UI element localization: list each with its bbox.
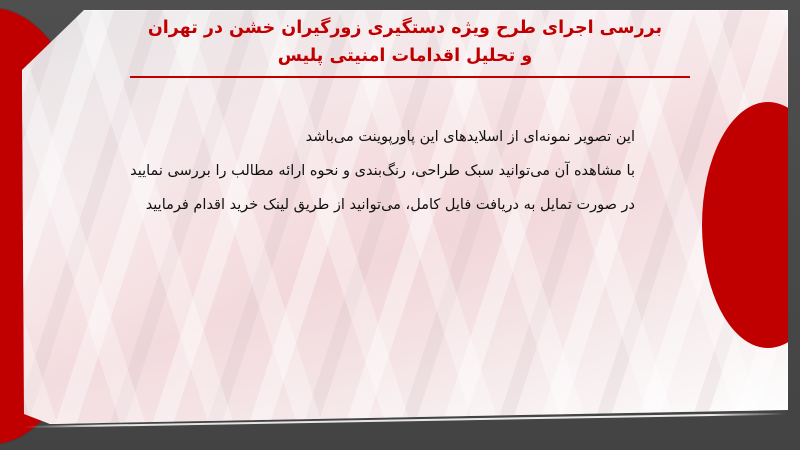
slide-title-line-2: و تحلیل اقدامات امنیتی پلیس <box>110 42 700 70</box>
slide-title: بررسی اجرای طرح ویژه دستگیری زورگیران خش… <box>110 14 700 70</box>
red-ellipse-right-decoration <box>702 102 788 348</box>
body-line-1: این تصویر نمونه‌ای از اسلایدهای این پاور… <box>165 120 635 154</box>
body-line-3: در صورت تمایل به دریافت فایل کامل، می‌تو… <box>165 188 635 222</box>
slide-body-text: این تصویر نمونه‌ای از اسلایدهای این پاور… <box>165 120 635 222</box>
panel-left-curve <box>22 10 102 424</box>
presentation-slide: بررسی اجرای طرح ویژه دستگیری زورگیران خش… <box>0 0 800 450</box>
body-line-2: با مشاهده آن می‌توانید سبک طراحی، رنگ‌بن… <box>165 154 635 188</box>
slide-title-line-1: بررسی اجرای طرح ویژه دستگیری زورگیران خش… <box>110 14 700 42</box>
title-underline-rule <box>130 76 690 78</box>
